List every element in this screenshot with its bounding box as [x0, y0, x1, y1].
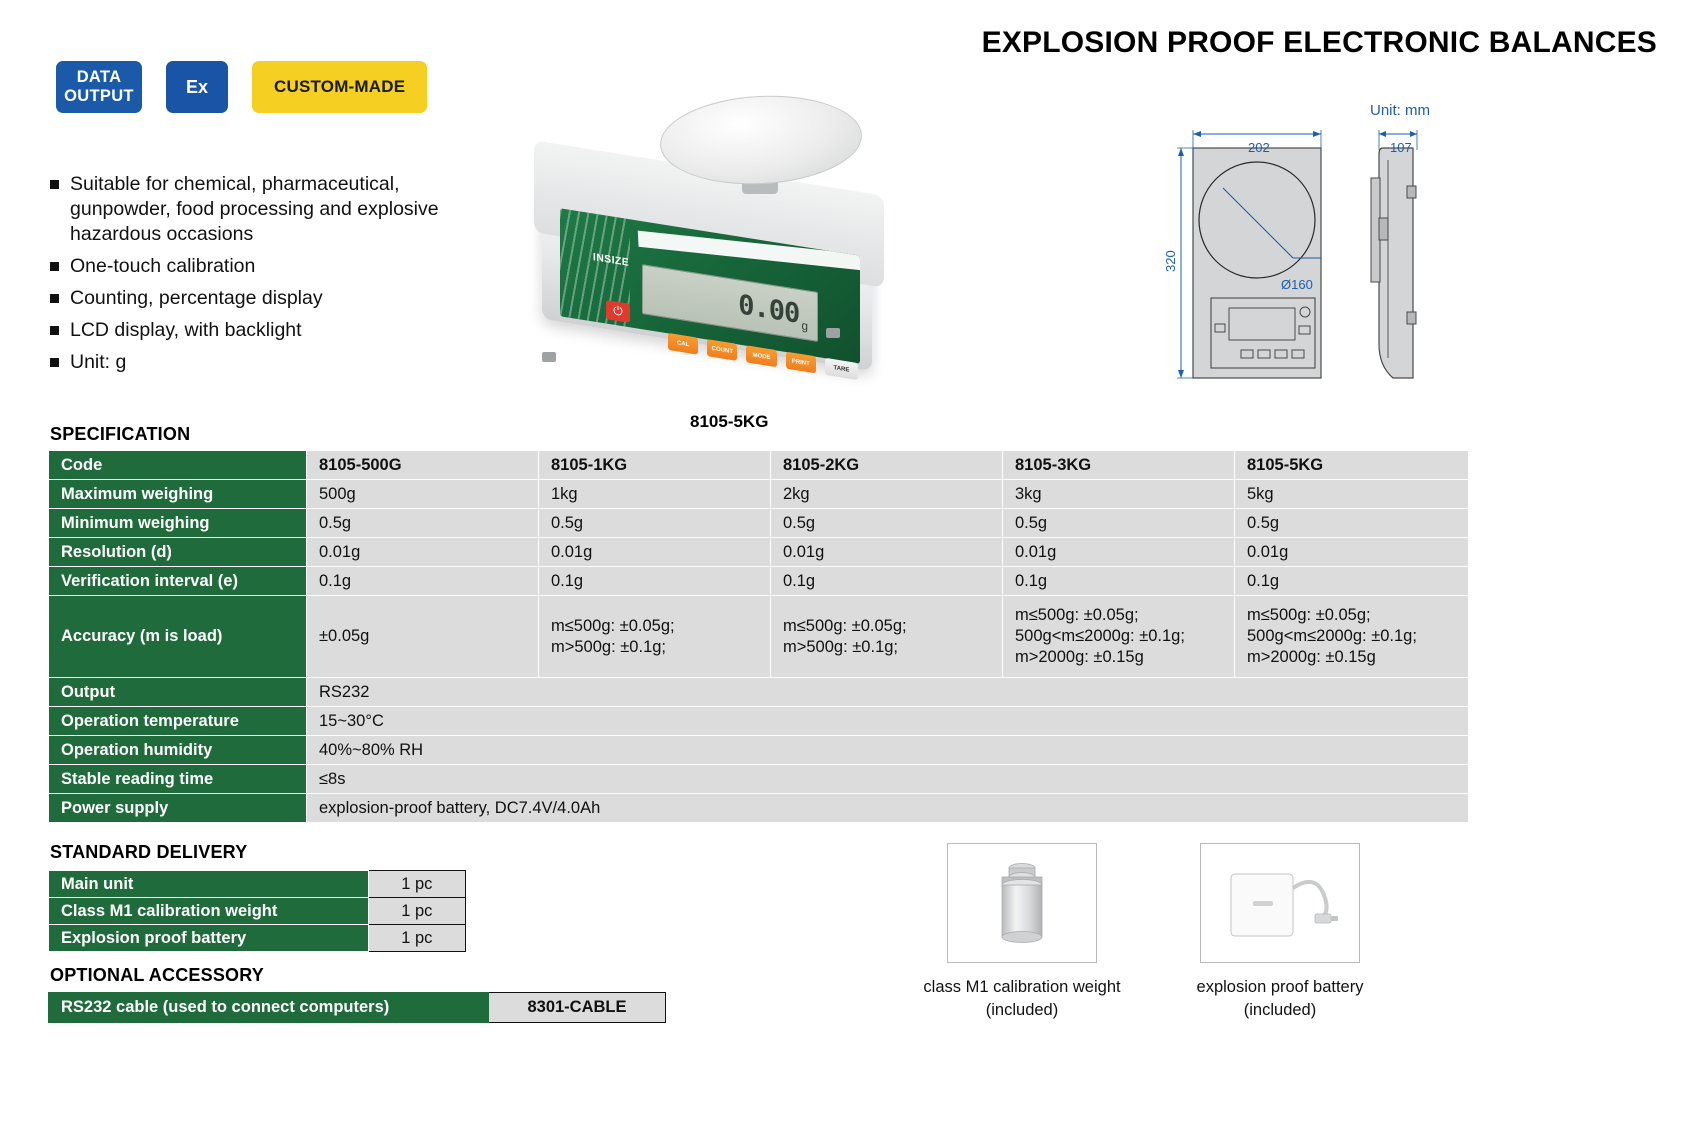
feature-item: Unit: g [50, 350, 500, 375]
caption-line-2: (included) [1140, 999, 1420, 1022]
row-label: Power supply [49, 794, 307, 823]
feature-text: One-touch calibration [70, 254, 255, 279]
table-row-verification-interval: Verification interval (e) 0.1g 0.1g 0.1g… [49, 567, 1469, 596]
scale-foot [826, 328, 840, 338]
table-row: RS232 cable (used to connect computers) … [49, 993, 666, 1023]
cell-code-3kg: 8105-3KG [1003, 451, 1235, 480]
feature-text: Suitable for chemical, pharmaceutical, g… [70, 172, 500, 247]
cell-accuracy-1kg: m≤500g: ±0.05g;m>500g: ±0.1g; [539, 596, 771, 678]
dimension-pan-diameter-label: Ø160 [1281, 277, 1313, 292]
cell-value: 0.5g [1235, 509, 1469, 538]
feature-text: LCD display, with backlight [70, 318, 302, 343]
specification-title: SPECIFICATION [50, 424, 190, 445]
bullet-square-icon [50, 358, 59, 367]
key-cal[interactable]: CAL [668, 333, 698, 355]
bullet-square-icon [50, 262, 59, 271]
cell-value: 40%~80% RH [307, 736, 1469, 765]
bullet-square-icon [50, 180, 59, 189]
row-label: Accuracy (m is load) [49, 596, 307, 678]
cell-value: 1kg [539, 480, 771, 509]
dimension-side-width-label: 107 [1390, 140, 1412, 155]
cell-code-1kg: 8105-1KG [539, 451, 771, 480]
product-model-caption: 8105-5KG [690, 412, 768, 432]
cell-value: 0.5g [1003, 509, 1235, 538]
bullet-square-icon [50, 326, 59, 335]
table-row-power-supply: Power supply explosion-proof battery, DC… [49, 794, 1469, 823]
cell-code-2kg: 8105-2KG [771, 451, 1003, 480]
badge-data-output-line2: OUTPUT [64, 87, 134, 105]
power-button[interactable]: ⏻ [606, 300, 630, 323]
cell-value: 0.5g [307, 509, 539, 538]
row-label: Output [49, 678, 307, 707]
standard-delivery-table: Main unit 1 pc Class M1 calibration weig… [48, 870, 466, 952]
key-print[interactable]: PRINT [786, 352, 816, 374]
scale-foot [542, 352, 556, 362]
cell-value: ≤8s [307, 765, 1469, 794]
cell-value: 0.01g [307, 538, 539, 567]
badge-data-output-line1: DATA [77, 68, 122, 86]
delivery-item-label: Main unit [49, 871, 369, 898]
optional-item-code: 8301-CABLE [489, 993, 666, 1023]
cell-value: 0.1g [539, 567, 771, 596]
cell-value: 0.1g [771, 567, 1003, 596]
calibration-weight-caption: class M1 calibration weight (included) [882, 976, 1162, 1022]
calibration-weight-photo [947, 843, 1097, 963]
table-row: Main unit 1 pc [49, 871, 466, 898]
cell-value: 0.01g [1003, 538, 1235, 567]
cell-value: 0.5g [771, 509, 1003, 538]
caption-line-1: class M1 calibration weight [882, 976, 1162, 999]
delivery-item-label: Explosion proof battery [49, 925, 369, 952]
row-label: Code [49, 451, 307, 480]
key-count[interactable]: COUNT [707, 339, 737, 361]
cell-value: 500g [307, 480, 539, 509]
table-row-max-weighing: Maximum weighing 500g 1kg 2kg 3kg 5kg [49, 480, 1469, 509]
technical-drawing [1175, 100, 1475, 400]
cell-value: 0.01g [771, 538, 1003, 567]
table-row-output: Output RS232 [49, 678, 1469, 707]
cell-value: 15~30°C [307, 707, 1469, 736]
standard-delivery-title: STANDARD DELIVERY [50, 842, 247, 863]
table-row-operation-temperature: Operation temperature 15~30°C [49, 707, 1469, 736]
cell-value: 0.1g [1003, 567, 1235, 596]
delivery-item-qty: 1 pc [368, 925, 465, 952]
cell-value: explosion-proof battery, DC7.4V/4.0Ah [307, 794, 1469, 823]
cell-accuracy-2kg: m≤500g: ±0.05g;m>500g: ±0.1g; [771, 596, 1003, 678]
cell-accuracy-3kg: m≤500g: ±0.05g;500g<m≤2000g: ±0.1g;m>200… [1003, 596, 1235, 678]
feature-text: Unit: g [70, 350, 126, 375]
row-label: Stable reading time [49, 765, 307, 794]
delivery-item-qty: 1 pc [368, 898, 465, 925]
feature-item: Suitable for chemical, pharmaceutical, g… [50, 172, 500, 247]
badge-custom-made: CUSTOM-MADE [252, 61, 427, 113]
optional-accessory-table: RS232 cable (used to connect computers) … [48, 992, 666, 1023]
cell-code-5kg: 8105-5KG [1235, 451, 1469, 480]
explosion-proof-battery-caption: explosion proof battery (included) [1140, 976, 1420, 1022]
cell-value: 5kg [1235, 480, 1469, 509]
dimension-width-label: 202 [1248, 140, 1270, 155]
specification-table: Code 8105-500G 8105-1KG 8105-2KG 8105-3K… [48, 450, 1469, 823]
table-row-code: Code 8105-500G 8105-1KG 8105-2KG 8105-3K… [49, 451, 1469, 480]
badge-data-output: DATA OUTPUT [56, 61, 142, 113]
table-row: Explosion proof battery 1 pc [49, 925, 466, 952]
table-row-resolution: Resolution (d) 0.01g 0.01g 0.01g 0.01g 0… [49, 538, 1469, 567]
cell-value: 0.1g [1235, 567, 1469, 596]
dimension-height-label: 320 [1163, 250, 1178, 272]
feature-list: Suitable for chemical, pharmaceutical, g… [50, 172, 500, 382]
table-row-accuracy: Accuracy (m is load) ±0.05g m≤500g: ±0.0… [49, 596, 1469, 678]
cell-value: RS232 [307, 678, 1469, 707]
feature-item: LCD display, with backlight [50, 318, 500, 343]
caption-line-1: explosion proof battery [1140, 976, 1420, 999]
cell-accuracy-5kg: m≤500g: ±0.05g;500g<m≤2000g: ±0.1g;m>200… [1235, 596, 1469, 678]
delivery-item-label: Class M1 calibration weight [49, 898, 369, 925]
cell-code-500g: 8105-500G [307, 451, 539, 480]
explosion-proof-battery-photo [1200, 843, 1360, 963]
cell-value: 0.1g [307, 567, 539, 596]
cell-value: 0.01g [1235, 538, 1469, 567]
table-row: Class M1 calibration weight 1 pc [49, 898, 466, 925]
row-label: Resolution (d) [49, 538, 307, 567]
lcd-unit: g [801, 318, 808, 333]
row-label: Operation humidity [49, 736, 307, 765]
feature-item: Counting, percentage display [50, 286, 500, 311]
bullet-square-icon [50, 294, 59, 303]
product-photo: INSIZE 0.00 g ⏻ CAL COUNT MODE PRINT TAR… [520, 60, 1000, 390]
table-row-operation-humidity: Operation humidity 40%~80% RH [49, 736, 1469, 765]
feature-text: Counting, percentage display [70, 286, 323, 311]
badge-group: DATA OUTPUT Ex CUSTOM-MADE [56, 61, 427, 113]
badge-ex: Ex [166, 61, 228, 113]
cell-value: 0.5g [539, 509, 771, 538]
page-title: EXPLOSION PROOF ELECTRONIC BALANCES [982, 26, 1657, 60]
cell-accuracy-500g: ±0.05g [307, 596, 539, 678]
cell-value: 3kg [1003, 480, 1235, 509]
delivery-item-qty: 1 pc [368, 871, 465, 898]
lcd-value: 0.00 [738, 289, 799, 330]
cell-value: 0.01g [539, 538, 771, 567]
optional-item-label: RS232 cable (used to connect computers) [49, 993, 489, 1023]
key-mode[interactable]: MODE [746, 345, 776, 367]
caption-line-2: (included) [882, 999, 1162, 1022]
row-label: Maximum weighing [49, 480, 307, 509]
cell-value: 2kg [771, 480, 1003, 509]
row-label: Verification interval (e) [49, 567, 307, 596]
table-row-stable-reading-time: Stable reading time ≤8s [49, 765, 1469, 794]
table-row-min-weighing: Minimum weighing 0.5g 0.5g 0.5g 0.5g 0.5… [49, 509, 1469, 538]
feature-item: One-touch calibration [50, 254, 500, 279]
row-label: Minimum weighing [49, 509, 307, 538]
optional-accessory-title: OPTIONAL ACCESSORY [50, 965, 264, 986]
row-label: Operation temperature [49, 707, 307, 736]
